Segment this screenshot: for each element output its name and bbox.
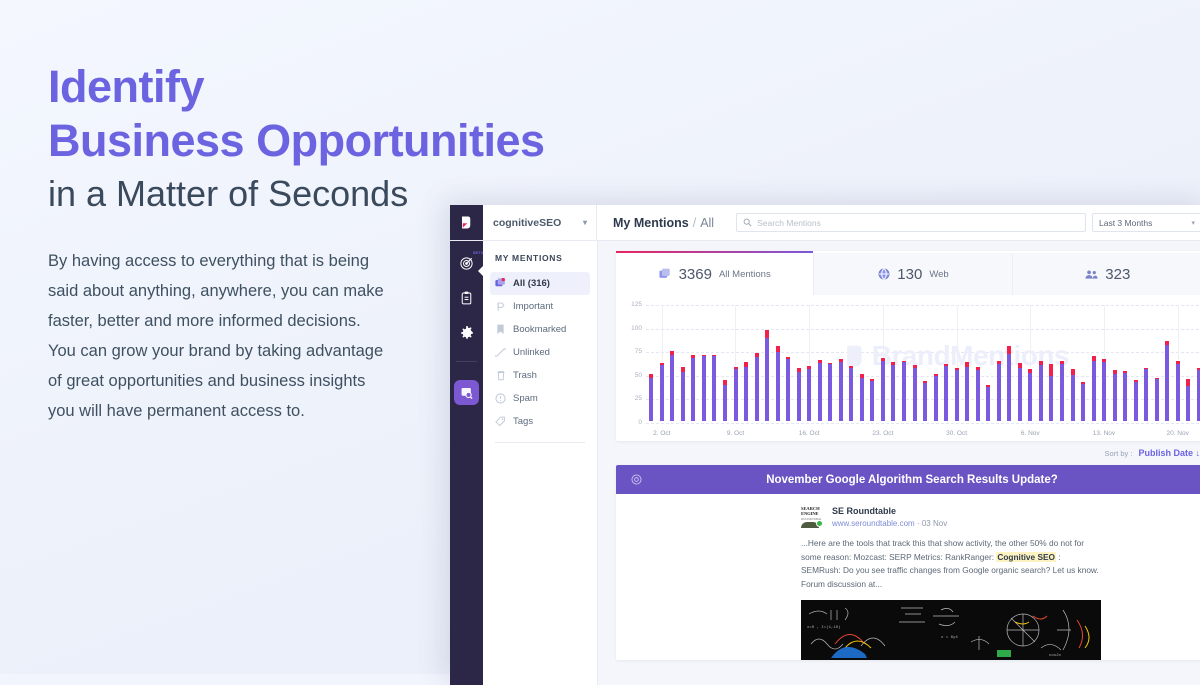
source-meta: www.seroundtable.com · 03 Nov: [832, 519, 947, 528]
mention-title: November Google Algorithm Search Results…: [628, 474, 1196, 486]
globe-icon: [877, 268, 890, 281]
chevron-down-icon: ▾: [1191, 219, 1195, 227]
chart-bar-segment-mentions: [755, 357, 759, 421]
chart-bar-segment-mentions: [923, 383, 927, 421]
source-logo-icon: SEARCH ENGINE ROUNDTABLE: [801, 506, 825, 528]
chart-bar-segment-mentions: [1092, 361, 1096, 421]
chart-y-tick-label: 50: [622, 372, 642, 379]
chart-bar[interactable]: [1173, 305, 1184, 421]
chart-bar-segment-mentions: [1144, 369, 1148, 421]
chart-bar[interactable]: [1036, 305, 1047, 421]
chart-bar-segment-mentions: [1102, 362, 1106, 421]
chart-bar[interactable]: [772, 305, 783, 421]
mention-card[interactable]: November Google Algorithm Search Results…: [616, 465, 1200, 660]
chart-bar-segment-mentions: [1113, 374, 1117, 421]
chart-bar[interactable]: [825, 305, 836, 421]
chart-bar[interactable]: [646, 305, 657, 421]
breadcrumb-item-all[interactable]: All: [700, 216, 714, 230]
chart-bar[interactable]: [1183, 305, 1194, 421]
chart-bar[interactable]: [899, 305, 910, 421]
chart-bar[interactable]: [804, 305, 815, 421]
chart-bar[interactable]: [720, 305, 731, 421]
mention-image[interactable]: x=0 , I=(1,10) x = 6y4 cos2x: [801, 600, 1101, 660]
mention-date: 03 Nov: [922, 519, 947, 528]
chart-bar-segment-mentions: [965, 367, 969, 421]
tab-label: Web: [929, 269, 948, 280]
chart-bar-segment-mentions: [976, 370, 980, 421]
chart-bar-segment-highlight: [1049, 364, 1053, 375]
chart-bar[interactable]: [1120, 305, 1131, 421]
chart-x-tick-label: 2. Oct: [653, 430, 670, 437]
chart-bar-segment-mentions: [649, 378, 653, 421]
chart-bar-segment-mentions: [776, 352, 780, 421]
tab-label: All Mentions: [719, 269, 771, 280]
chart-x-tick-label: 9. Oct: [727, 430, 744, 437]
people-icon: [1085, 268, 1098, 281]
chart-x-tick-label: 30. Oct: [946, 430, 967, 437]
mention-snippet: ...Here are the tools that track this th…: [801, 537, 1101, 591]
source-url[interactable]: www.seroundtable.com: [832, 519, 915, 528]
chart-bar-segment-mentions: [670, 355, 674, 421]
chart-bar[interactable]: [1141, 305, 1152, 421]
sort-label: Sort by :: [1105, 449, 1133, 458]
chart-bar[interactable]: [1099, 305, 1110, 421]
chart-bar[interactable]: [994, 305, 1005, 421]
chart-bar-segment-mentions: [881, 361, 885, 421]
content-area: 3369 All Mentions 130 Web: [598, 241, 1200, 685]
chart-bar-segment-mentions: [765, 338, 769, 421]
hero-heading-line-2: Business Opportunities: [48, 114, 608, 168]
chart-y-tick-label: 125: [622, 301, 642, 308]
chart-bar-segment-mentions: [828, 364, 832, 421]
chart-bar-segment-mentions: [902, 362, 906, 421]
source-name: SE Roundtable: [832, 506, 947, 516]
meta-separator: ·: [917, 519, 920, 528]
chart-bar-segment-mentions: [723, 385, 727, 421]
chart-y-tick-label: 0: [622, 419, 642, 426]
breadcrumb-item-mentions[interactable]: My Mentions: [613, 216, 689, 230]
tab-accent-bar: [616, 251, 813, 253]
chart-bar[interactable]: [1004, 305, 1015, 421]
chart-bar-segment-highlight: [765, 330, 769, 338]
chart-bar-segment-mentions: [786, 359, 790, 421]
chart-bar-segment-mentions: [818, 363, 822, 421]
chart-bar-segment-mentions: [934, 376, 938, 421]
mention-card-header: November Google Algorithm Search Results…: [616, 465, 1200, 494]
chart-bar[interactable]: [815, 305, 826, 421]
chart-y-tick-label: 100: [622, 325, 642, 332]
chart-bar-segment-mentions: [1134, 382, 1138, 421]
chart-bar[interactable]: [793, 305, 804, 421]
tab-web[interactable]: 130 Web: [813, 253, 1011, 295]
chart-bar[interactable]: [1057, 305, 1068, 421]
chart-bar-segment-mentions: [913, 368, 917, 421]
chart-bar[interactable]: [1152, 305, 1163, 421]
tab-count: 3369: [679, 266, 712, 283]
chart-bar[interactable]: [1088, 305, 1099, 421]
chart-bar[interactable]: [867, 305, 878, 421]
svg-text:cos2x: cos2x: [1049, 654, 1062, 658]
chart-bar[interactable]: [857, 305, 868, 421]
chart-bar-segment-mentions: [944, 366, 948, 421]
chart-x-tick-label: 6. Nov: [1021, 430, 1040, 437]
chart-bar-segment-mentions: [712, 356, 716, 421]
chart-x-tick-label: 20. Nov: [1166, 430, 1188, 437]
chart-bar-segment-mentions: [807, 369, 811, 421]
search-container: Search Mentions: [730, 205, 1092, 240]
sort-bar: Sort by : Publish Date ↓: [616, 441, 1200, 465]
hero-section: Identify Business Opportunities in a Mat…: [48, 60, 608, 426]
chart-bar-segment-mentions: [891, 365, 895, 421]
chart-bar-segment-mentions: [870, 381, 874, 421]
chart-bar-segment-mentions: [1071, 375, 1075, 421]
chart-bar-segment-mentions: [955, 370, 959, 421]
chart-bar[interactable]: [657, 305, 668, 421]
chart-bar-segment-highlight: [1007, 346, 1011, 354]
mention-source-row: SEARCH ENGINE ROUNDTABLE SE Roundtable w…: [801, 506, 1196, 528]
chart-bar-segment-highlight: [1186, 379, 1190, 386]
chart-bar[interactable]: [741, 305, 752, 421]
mentions-bar-chart: 0255075100125 BrandMentions 2. Oct9. Oct…: [616, 295, 1200, 441]
chart-bar[interactable]: [1078, 305, 1089, 421]
chart-bar-segment-mentions: [1081, 384, 1085, 421]
breadcrumb-separator: /: [693, 216, 696, 230]
hero-heading-line-1: Identify: [48, 60, 608, 114]
search-placeholder: Search Mentions: [757, 218, 821, 228]
hero-paragraph: By having access to everything that is b…: [48, 246, 388, 426]
source-info: SE Roundtable www.seroundtable.com · 03 …: [832, 506, 947, 528]
tab-social[interactable]: 323: [1012, 253, 1200, 295]
chart-bar[interactable]: [1015, 305, 1026, 421]
chart-bar-segment-mentions: [734, 369, 738, 421]
chart-bar-segment-mentions: [1186, 386, 1190, 421]
chart-bar-segment-mentions: [839, 362, 843, 421]
chart-bar-segment-mentions: [1028, 373, 1032, 421]
chart-bar[interactable]: [1194, 305, 1200, 421]
chart-x-tick-label: 16. Oct: [799, 430, 820, 437]
chart-bar[interactable]: [941, 305, 952, 421]
chart-bar[interactable]: [678, 305, 689, 421]
mentions-chart-card: 3369 All Mentions 130 Web: [616, 251, 1200, 441]
source-status-dot: [816, 520, 823, 527]
chart-bar[interactable]: [783, 305, 794, 421]
chart-bar[interactable]: [930, 305, 941, 421]
chart-bar-segment-mentions: [997, 364, 1001, 421]
chart-bar[interactable]: [730, 305, 741, 421]
sidebar-divider: [495, 442, 585, 443]
svg-text:x = 6y4: x = 6y4: [941, 636, 958, 640]
date-range-select[interactable]: Last 3 Months ▾: [1092, 213, 1200, 232]
chart-bar-segment-mentions: [660, 365, 664, 421]
chart-bar[interactable]: [962, 305, 973, 421]
chart-bar[interactable]: [1046, 305, 1057, 421]
chart-bar-segment-mentions: [681, 372, 685, 421]
tab-all-mentions[interactable]: 3369 All Mentions: [616, 253, 813, 295]
sort-value-button[interactable]: Publish Date ↓: [1138, 448, 1200, 458]
chart-x-tick-label: 23. Oct: [872, 430, 893, 437]
chart-bar-segment-mentions: [702, 356, 706, 421]
chart-bar[interactable]: [878, 305, 889, 421]
chart-bar-segment-mentions: [1039, 365, 1043, 421]
chart-bar[interactable]: [1025, 305, 1036, 421]
chart-x-tick-label: 13. Nov: [1093, 430, 1115, 437]
chart-bar-segment-mentions: [744, 367, 748, 421]
chart-bar[interactable]: [1067, 305, 1078, 421]
chart-bar[interactable]: [699, 305, 710, 421]
chart-bar[interactable]: [983, 305, 994, 421]
chart-bar-segment-mentions: [1155, 379, 1159, 421]
date-range-value: Last 3 Months: [1099, 218, 1152, 228]
chart-bar[interactable]: [836, 305, 847, 421]
chart-bars: [646, 305, 1200, 421]
search-input[interactable]: Search Mentions: [736, 213, 1086, 232]
chart-bar[interactable]: [751, 305, 762, 421]
chart-bar-segment-mentions: [1176, 364, 1180, 421]
chart-bar-segment-mentions: [986, 387, 990, 421]
tab-count: 323: [1105, 266, 1130, 283]
chart-bar-segment-mentions: [1049, 376, 1053, 421]
chart-bar-segment-mentions: [849, 368, 853, 421]
tab-count: 130: [897, 266, 922, 283]
chart-y-tick-label: 25: [622, 395, 642, 402]
chart-bar-segment-mentions: [1060, 364, 1064, 421]
chart-bar[interactable]: [846, 305, 857, 421]
chart-bar[interactable]: [920, 305, 931, 421]
chart-tabbar: 3369 All Mentions 130 Web: [616, 253, 1200, 295]
search-icon: [743, 218, 752, 227]
chart-bar-segment-mentions: [1007, 354, 1011, 421]
chart-y-tick-label: 75: [622, 348, 642, 355]
mentions-square-icon: [659, 268, 672, 281]
chart-bar-segment-mentions: [691, 358, 695, 421]
chart-bar[interactable]: [972, 305, 983, 421]
chart-bar[interactable]: [888, 305, 899, 421]
chart-bar-segment-mentions: [1018, 368, 1022, 421]
chart-bar[interactable]: [1162, 305, 1173, 421]
breadcrumb: My Mentions / All: [597, 205, 730, 240]
chart-bar[interactable]: [909, 305, 920, 421]
chart-bar[interactable]: [1130, 305, 1141, 421]
chart-gridline: [646, 423, 1200, 424]
hero-heading-line-3: in a Matter of Seconds: [48, 168, 608, 220]
mention-card-body: SEARCH ENGINE ROUNDTABLE SE Roundtable w…: [616, 494, 1200, 660]
chart-bar[interactable]: [762, 305, 773, 421]
chart-bar[interactable]: [1109, 305, 1120, 421]
chart-bar-segment-mentions: [797, 372, 801, 421]
chart-bar-segment-mentions: [860, 378, 864, 421]
chart-bar[interactable]: [709, 305, 720, 421]
chart-bar[interactable]: [951, 305, 962, 421]
chart-bar-segment-mentions: [1123, 373, 1127, 421]
snippet-highlight: Cognitive SEO: [996, 552, 1056, 562]
chart-bar[interactable]: [667, 305, 678, 421]
chart-bar-segment-mentions: [1165, 345, 1169, 421]
svg-text:x=0 , I=(1,10): x=0 , I=(1,10): [807, 625, 841, 630]
chart-bar[interactable]: [688, 305, 699, 421]
